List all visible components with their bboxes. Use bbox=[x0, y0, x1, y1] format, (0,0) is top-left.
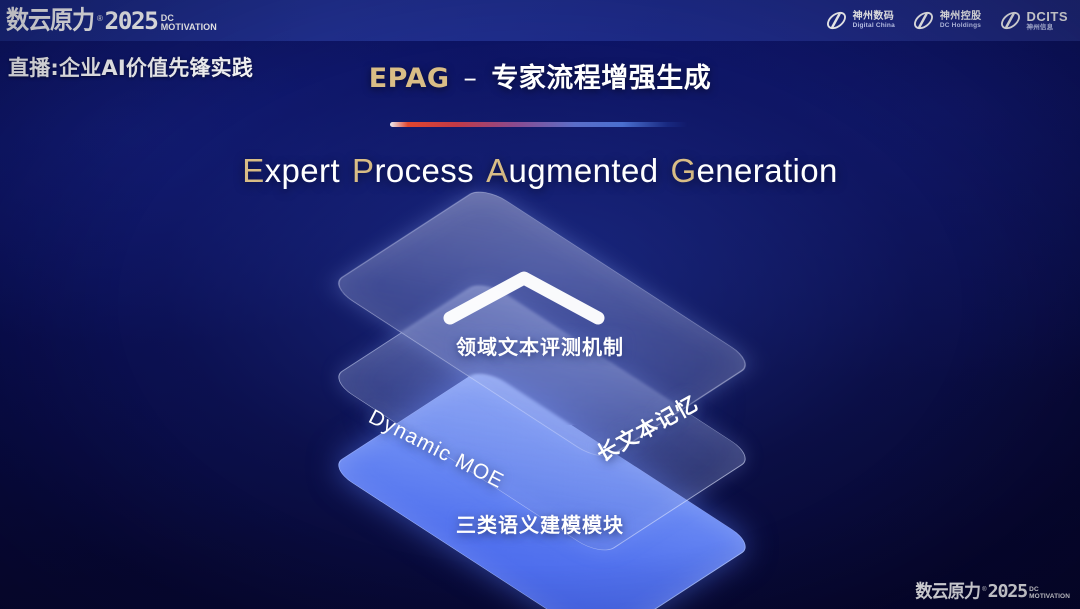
heading-separator: – bbox=[463, 63, 477, 94]
subtitle-word-process: Process bbox=[352, 152, 474, 189]
partner-name-en: 神州信息 bbox=[1027, 24, 1069, 31]
swoosh-icon bbox=[999, 9, 1022, 32]
brand-logo: 数云原力 ® 2025 DC MOTIVATION bbox=[6, 9, 217, 33]
subtitle-word-augmented: Augmented bbox=[486, 152, 658, 189]
brand-logo-year: 2025 bbox=[104, 9, 157, 33]
watermark-year: 2025 bbox=[987, 583, 1026, 601]
top-banner: 数云原力 ® 2025 DC MOTIVATION 神州数码 Digital C… bbox=[0, 0, 1080, 41]
subtitle-rest: ugmented bbox=[508, 152, 658, 189]
watermark-dc-line2: MOTIVATION bbox=[1029, 594, 1070, 601]
watermark-registered-mark: ® bbox=[982, 587, 986, 593]
partner-name-en: Digital China bbox=[853, 22, 895, 29]
brand-logo-dc: DC MOTIVATION bbox=[161, 14, 217, 32]
layer-label-top: 领域文本评测机制 bbox=[0, 331, 1080, 360]
partner-logo-group: 神州数码 Digital China 神州控股 DC Holdings bbox=[825, 9, 1072, 32]
partner-name-en: DC Holdings bbox=[940, 22, 982, 29]
partner-name-cn: DCITS bbox=[1027, 10, 1069, 25]
subtitle-word-generation: Generation bbox=[670, 152, 837, 189]
subtitle-rest: eneration bbox=[697, 152, 838, 189]
partner-logo-dcits: DCITS 神州信息 bbox=[999, 9, 1069, 32]
brand-registered-mark: ® bbox=[97, 15, 103, 23]
layer-label-bottom: 三类语义建模模块 bbox=[0, 509, 1080, 538]
heading-acronym: EPAG bbox=[369, 63, 450, 94]
partner-logo-text: DCITS 神州信息 bbox=[1027, 10, 1069, 32]
subtitle-initial: A bbox=[486, 152, 508, 189]
brand-dc-line2: MOTIVATION bbox=[161, 23, 217, 32]
partner-name-cn: 神州数码 bbox=[853, 11, 895, 22]
subtitle-acronym-expansion: ExpertProcessAugmentedGeneration bbox=[0, 152, 1080, 190]
subtitle-initial: G bbox=[670, 152, 696, 189]
subtitle-initial: E bbox=[242, 152, 264, 189]
heading-chinese: 专家流程增强生成 bbox=[491, 63, 711, 94]
footer-watermark-logo: 数云原力 ® 2025 DC MOTIVATION bbox=[915, 583, 1070, 601]
partner-name-cn: 神州控股 bbox=[940, 11, 982, 22]
watermark-cn: 数云原力 bbox=[915, 583, 980, 601]
subtitle-rest: xpert bbox=[265, 152, 340, 189]
subtitle-word-expert: Expert bbox=[242, 152, 340, 189]
swoosh-icon bbox=[912, 9, 935, 32]
watermark-dc: DC MOTIVATION bbox=[1029, 587, 1070, 600]
subtitle-rest: rocess bbox=[374, 152, 474, 189]
swoosh-icon bbox=[825, 9, 848, 32]
brand-logo-cn: 数云原力 bbox=[6, 9, 94, 34]
presentation-slide: 数云原力 ® 2025 DC MOTIVATION 神州数码 Digital C… bbox=[0, 0, 1080, 609]
partner-logo-digital-china: 神州数码 Digital China bbox=[825, 9, 895, 32]
partner-logo-text: 神州数码 Digital China bbox=[853, 11, 895, 29]
subtitle-initial: P bbox=[352, 152, 374, 189]
page-title: EPAG – 专家流程增强生成 bbox=[0, 56, 1080, 95]
gradient-divider bbox=[390, 122, 688, 127]
partner-logo-text: 神州控股 DC Holdings bbox=[940, 11, 982, 29]
partner-logo-dc-holdings: 神州控股 DC Holdings bbox=[912, 9, 982, 32]
